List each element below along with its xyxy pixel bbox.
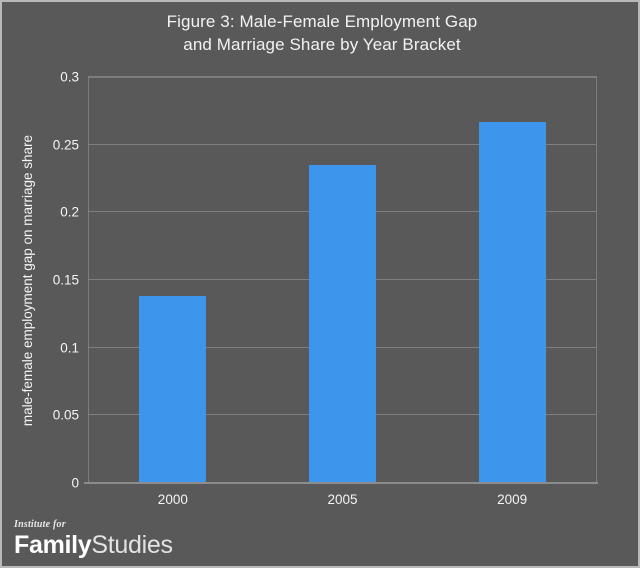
institute-for-family-studies-logo: Institute for FamilyStudies — [14, 520, 173, 558]
x-axis-tick-label: 2005 — [327, 492, 357, 507]
y-axis-tick-label: 0 — [71, 476, 79, 491]
y-axis-tick-label: 0.2 — [60, 205, 79, 220]
x-axis-ticks: 200020052009 — [88, 492, 597, 514]
y-axis-tick-label: 0.1 — [60, 340, 79, 355]
logo-main-text: FamilyStudies — [14, 533, 173, 558]
bar-group — [479, 77, 546, 483]
y-axis-tick-label: 0.3 — [60, 70, 79, 85]
y-axis-title-label: male-female employment gap on marriage s… — [21, 134, 36, 425]
x-axis-line — [84, 482, 598, 484]
chart-title-line-2: and Marriage Share by Year Bracket — [62, 33, 582, 56]
chart-title-line-1: Figure 3: Male-Female Employment Gap — [62, 10, 582, 33]
x-axis-tick-label: 2009 — [497, 492, 527, 507]
x-axis-tick-label: 2000 — [158, 492, 188, 507]
bar-group — [139, 77, 206, 483]
bar-group — [309, 77, 376, 483]
bar-2009[interactable] — [479, 122, 546, 483]
logo-institute-for-text: Institute for — [14, 520, 173, 530]
y-axis-tick-label: 0.05 — [53, 408, 79, 423]
y-axis-tick-label: 0.25 — [53, 137, 79, 152]
chart-screenshot: Figure 3: Male-Female Employment Gap and… — [0, 0, 640, 568]
bar-2000[interactable] — [139, 296, 206, 483]
bar-2005[interactable] — [309, 165, 376, 483]
logo-family-text: Family — [14, 531, 91, 559]
logo-studies-text: Studies — [91, 531, 172, 559]
y-axis-tick-label: 0.15 — [53, 273, 79, 288]
bars-layer — [88, 77, 597, 483]
plot-area — [88, 77, 597, 483]
chart-title: Figure 3: Male-Female Employment Gap and… — [62, 10, 582, 56]
y-axis-title: male-female employment gap on marriage s… — [18, 77, 38, 483]
